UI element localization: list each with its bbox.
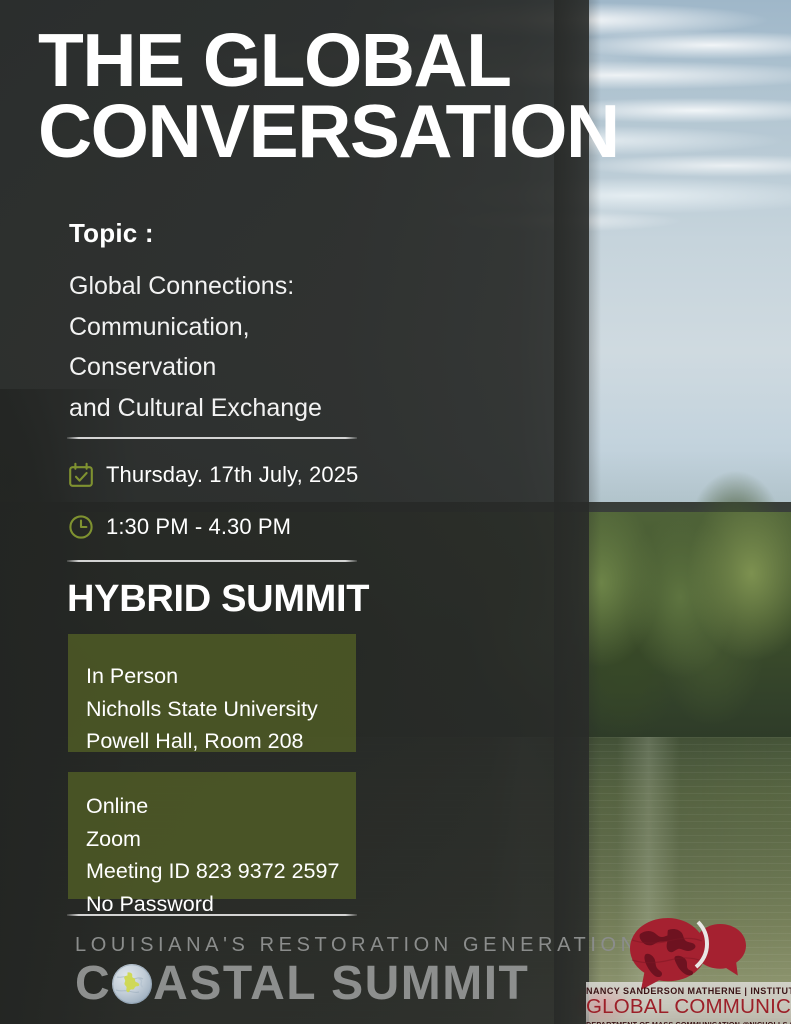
- speech-bubbles-globe-icon: [586, 916, 791, 988]
- louisiana-globe-icon: [112, 964, 152, 1004]
- coastal-summit-letter-c: C: [75, 956, 111, 1011]
- online-line-3: Meeting ID 823 9372 2597: [86, 855, 338, 888]
- calendar-check-icon: [67, 461, 95, 489]
- in-person-details-box: In Person Nicholls State University Powe…: [68, 634, 356, 752]
- coastal-summit-wordmark: C ASTAL SUMMIT: [75, 956, 525, 1011]
- in-person-line-2: Nicholls State University: [86, 693, 338, 726]
- coastal-summit-word-rest: ASTAL SUMMIT: [153, 956, 529, 1011]
- event-time-row: 1:30 PM - 4.30 PM: [67, 513, 291, 541]
- online-line-2: Zoom: [86, 823, 338, 856]
- online-line-1: Online: [86, 790, 338, 823]
- topic-text: Global Connections: Communication, Conse…: [69, 266, 499, 428]
- topic-line-1: Global Connections:: [69, 266, 499, 307]
- in-person-line-3: Powell Hall, Room 208: [86, 725, 338, 758]
- global-communication-logo: NANCY SANDERSON MATHERNE | INSTITUTE FOR…: [586, 916, 791, 1024]
- event-time-text: 1:30 PM - 4.30 PM: [106, 514, 291, 540]
- coastal-summit-logo: LOUISIANA'S RESTORATION GENERATION C AST…: [75, 934, 525, 1011]
- format-heading: HYBRID SUMMIT: [67, 578, 369, 621]
- online-details-box: Online Zoom Meeting ID 823 9372 2597 No …: [68, 772, 356, 899]
- in-person-line-1: In Person: [86, 660, 338, 693]
- event-poster: THE GLOBAL CONVERSATION Topic : Global C…: [0, 0, 791, 1024]
- divider-above-logos: [67, 914, 357, 916]
- divider-above-hybrid: [67, 560, 357, 562]
- topic-line-4: and Cultural Exchange: [69, 388, 499, 429]
- gcl-title-line: GLOBAL COMMUNICATION: [586, 996, 791, 1019]
- coastal-summit-kicker: LOUISIANA'S RESTORATION GENERATION: [75, 934, 525, 957]
- poster-content: THE GLOBAL CONVERSATION Topic : Global C…: [0, 0, 791, 1024]
- clock-icon: [67, 513, 95, 541]
- event-date-row: Thursday. 17th July, 2025: [67, 461, 358, 489]
- page-title: THE GLOBAL CONVERSATION: [38, 25, 598, 166]
- title-line-2: CONVERSATION: [38, 96, 598, 167]
- divider-above-date: [67, 437, 357, 439]
- event-date-text: Thursday. 17th July, 2025: [106, 462, 358, 488]
- topic-line-2: Communication,: [69, 307, 499, 348]
- topic-line-3: Conservation: [69, 347, 499, 388]
- topic-label: Topic :: [69, 218, 154, 249]
- gcl-department-line: DEPARTMENT OF MASS COMMUNICATION @NICHOL…: [586, 1020, 791, 1024]
